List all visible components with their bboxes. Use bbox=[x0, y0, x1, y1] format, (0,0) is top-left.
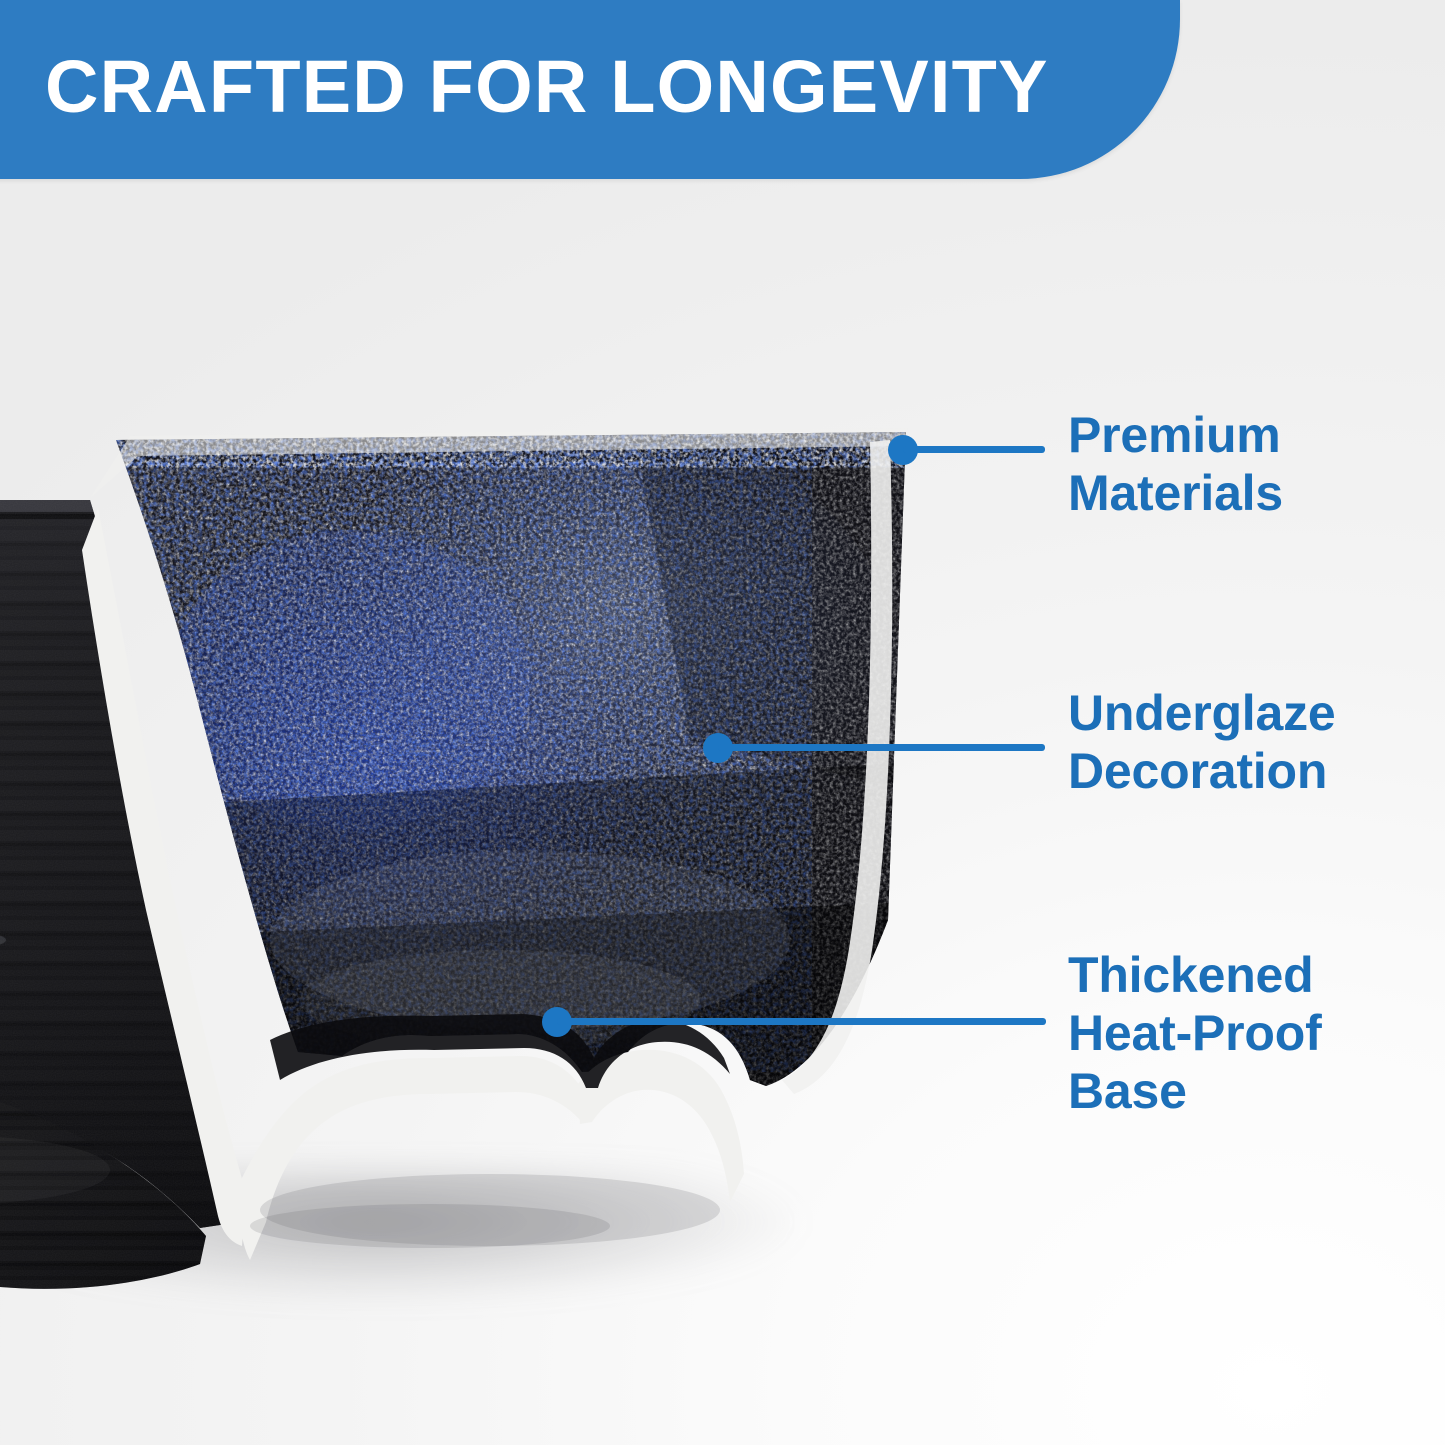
infographic-canvas: CRAFTED FOR LONGEVITY Premium Materials … bbox=[0, 0, 1445, 1445]
callout-label-thickened-heat-proof-base: Thickened Heat-Proof Base bbox=[1068, 946, 1438, 1120]
callout-line-thickened-heat-proof-base bbox=[557, 1018, 1046, 1025]
callout-label-underglaze-decoration: Underglaze Decoration bbox=[1068, 684, 1445, 800]
banner-title: CRAFTED FOR LONGEVITY bbox=[45, 50, 1135, 124]
callout-line-premium-materials bbox=[903, 446, 1045, 453]
header-banner: CRAFTED FOR LONGEVITY bbox=[0, 0, 1180, 179]
bowl-cutaway-svg bbox=[0, 380, 910, 1250]
callout-line-underglaze-decoration bbox=[718, 744, 1045, 751]
product-cutaway-image bbox=[0, 380, 910, 1250]
callout-label-premium-materials: Premium Materials bbox=[1068, 406, 1428, 522]
bowl-interior-glaze bbox=[90, 410, 950, 1120]
